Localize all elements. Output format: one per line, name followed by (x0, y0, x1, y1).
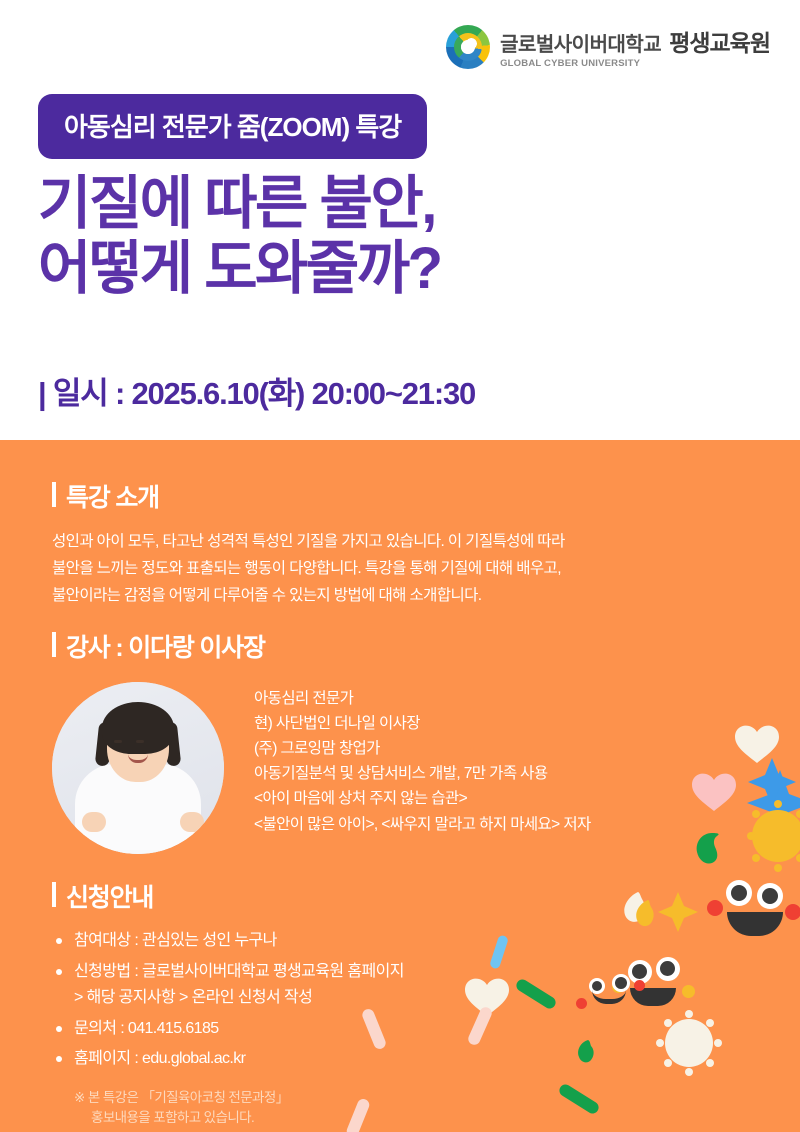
apply-title: 신청안내 (52, 878, 404, 914)
gcu-globe-icon (446, 25, 490, 69)
apply-list: 참여대상 : 관심있는 성인 누구나 신청방법 : 글로벌사이버대학교 평생교육… (52, 928, 404, 1072)
list-item-homepage[interactable]: 홈페이지 : edu.global.ac.kr (52, 1046, 404, 1072)
lecturer-avatar (52, 682, 224, 854)
green-star-cheek-right (682, 985, 695, 998)
stick-pink-icon (466, 1005, 493, 1046)
footnote-line-2: 홍보내용을 포함하고 있습니다. (74, 1108, 404, 1128)
bio-line-1: 아동심리 전문가 (254, 686, 591, 711)
burst-cream-spikes-icon (656, 1010, 722, 1076)
intro-line-3: 불안이라는 감정을 어떻게 다루어줄 수 있는지 방법에 대해 소개합니다. (52, 582, 565, 609)
bio-line-6: <불안이 많은 아이>, <싸우지 말라고 하지 마세요> 저자 (254, 812, 591, 837)
intro-line-2: 불안을 느끼는 정도와 표출되는 행동이 다양합니다. 특강을 통해 기질에 대… (52, 555, 565, 582)
sparkle-yellow-icon (658, 892, 698, 932)
yellow-square-mouth (592, 990, 626, 1004)
yellow-square-cheek-right (634, 980, 645, 991)
bio-line-2: 현) 사단법인 더나일 이사장 (254, 711, 591, 736)
blue-circle-cheek-right (785, 904, 800, 920)
yellow-square-cheek-left (576, 998, 587, 1009)
stick-green-icon (514, 977, 558, 1010)
list-item: 문의처 : 041.415.6185 (52, 1016, 404, 1042)
crescent-yellow-icon (636, 900, 653, 926)
list-item-continuation: > 해당 공지사항 > 온라인 신청서 작성 (52, 985, 404, 1011)
lecturer-title: 강사 : 이다랑 이사장 (52, 628, 591, 664)
intro-body: 성인과 아이 모두, 타고난 성격적 특성인 기질을 가지고 있습니다. 이 기… (52, 528, 565, 609)
lecturer-row: 아동심리 전문가 현) 사단법인 더나일 이사장 (주) 그로잉맘 창업가 아동… (52, 682, 591, 854)
heart-cream-2-icon (465, 979, 509, 1016)
footnote-line-1: ※ 본 특강은 「기질육아코칭 전문과정」 (74, 1088, 404, 1108)
bio-line-4: 아동기질분석 및 상담서비스 개발, 7만 가족 사용 (254, 761, 591, 786)
sun-yellow-icon (752, 810, 800, 862)
sun-rays-icon (747, 800, 800, 872)
lecturer-block: 강사 : 이다랑 이사장 (52, 628, 591, 854)
poster-root: 글로벌사이버대학교 GLOBAL CYBER UNIVERSITY 평생교육원 … (0, 0, 800, 1132)
schedule-text: | 일시 : 2025.6.10(화) 20:00~21:30 (38, 368, 475, 413)
green-star-eye-right (656, 957, 680, 981)
brand-lockup: 글로벌사이버대학교 GLOBAL CYBER UNIVERSITY 평생교육원 (446, 24, 770, 69)
green-star-cheek-left (612, 980, 625, 993)
yellow-square-eye-right (612, 974, 630, 992)
intro-title: 특강 소개 (52, 478, 565, 514)
bio-line-3: (주) 그로잉맘 창업가 (254, 736, 591, 761)
intro-line-1: 성인과 아이 모두, 타고난 성격적 특성인 기질을 가지고 있습니다. 이 기… (52, 528, 565, 555)
crescent-green-2-icon (578, 1040, 594, 1062)
list-item: 참여대상 : 관심있는 성인 누구나 (52, 928, 404, 954)
green-star-mouth (630, 988, 676, 1006)
stick-green-2-icon (557, 1082, 601, 1115)
stick-lightblue-icon (489, 934, 509, 969)
blue-circle-cheek-left (707, 900, 723, 916)
division-name: 평생교육원 (669, 24, 770, 58)
heart-cream-icon (735, 726, 779, 763)
blue-circle-eye-right (757, 883, 783, 909)
yellow-square-eye-left (589, 978, 605, 994)
heart-pink-icon (692, 774, 736, 811)
page-title: 기질에 따른 불안, 어떻게 도와줄까? (38, 172, 441, 302)
page-title-line-1: 기질에 따른 불안, (38, 172, 441, 237)
sparkle-blue-icon (747, 770, 800, 836)
blue-circle-mouth (727, 912, 783, 936)
bio-line-5: <아이 마음에 상처 주지 않는 습관> (254, 786, 591, 811)
green-star-eye-left (628, 960, 652, 984)
brand-text-group: 글로벌사이버대학교 GLOBAL CYBER UNIVERSITY 평생교육원 (500, 24, 770, 69)
list-item: 신청방법 : 글로벌사이버대학교 평생교육원 홈페이지 (52, 959, 404, 985)
details-section: 특강 소개 성인과 아이 모두, 타고난 성격적 특성인 기질을 가지고 있습니… (0, 440, 800, 1132)
intro-block: 특강 소개 성인과 아이 모두, 타고난 성격적 특성인 기질을 가지고 있습니… (52, 478, 565, 609)
course-type-badge: 아동심리 전문가 줌(ZOOM) 특강 (38, 94, 427, 159)
blue-circle-eye-left (726, 880, 752, 906)
footnote: ※ 본 특강은 「기질육아코칭 전문과정」 홍보내용을 포함하고 있습니다. (74, 1088, 404, 1129)
page-title-line-2: 어떻게 도와줄까? (38, 237, 441, 302)
crescent-green-icon (697, 833, 719, 864)
header-section: 글로벌사이버대학교 GLOBAL CYBER UNIVERSITY 평생교육원 … (0, 0, 800, 440)
university-name-en: GLOBAL CYBER UNIVERSITY (500, 58, 661, 69)
university-name-kr: 글로벌사이버대학교 (500, 35, 661, 56)
burst-cream-icon (665, 1019, 713, 1067)
apply-block: 신청안내 참여대상 : 관심있는 성인 누구나 신청방법 : 글로벌사이버대학교… (52, 878, 404, 1128)
sparkle-blue-2-icon (748, 758, 796, 806)
crescent-cream-icon (624, 892, 645, 922)
lecturer-bio: 아동심리 전문가 현) 사단법인 더나일 이사장 (주) 그로잉맘 창업가 아동… (254, 682, 591, 837)
